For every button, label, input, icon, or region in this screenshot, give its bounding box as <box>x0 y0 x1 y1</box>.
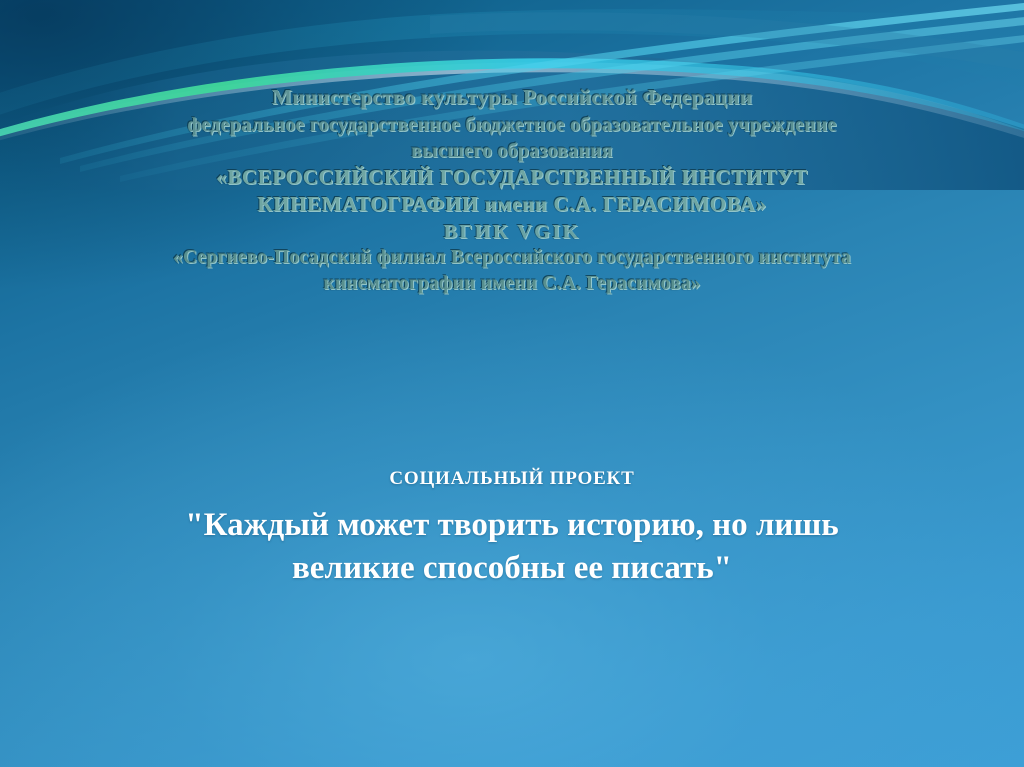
header-line-ministry: Министерство культуры Российской Федерац… <box>26 84 998 112</box>
header-line-branch-1: «Сергиево-Посадский филиал Всероссийског… <box>26 245 998 270</box>
presentation-slide: Министерство культуры Российской Федерац… <box>0 0 1024 767</box>
institution-header: Министерство культуры Российской Федерац… <box>0 84 1024 296</box>
header-line-institution-type: федеральное государственное бюджетное об… <box>26 112 998 138</box>
project-quote: "Каждый может творить историю, но лишь в… <box>40 504 984 590</box>
project-quote-line-2: великие способны ее писать" <box>40 547 984 590</box>
project-kicker-label: СОЦИАЛЬНЫЙ ПРОЕКТ <box>40 468 984 490</box>
header-line-institute-name-2: КИНЕМАТОГРАФИИ имени С.А. ГЕРАСИМОВА» <box>26 191 998 218</box>
project-title-block: СОЦИАЛЬНЫЙ ПРОЕКТ "Каждый может творить … <box>0 468 1024 590</box>
header-line-branch-2: кинематографии имени С.А. Герасимова» <box>26 271 998 296</box>
header-line-institute-name-1: «ВСЕРОССИЙСКИЙ ГОСУДАРСТВЕННЫЙ ИНСТИТУТ <box>26 164 998 191</box>
project-quote-line-1: "Каждый может творить историю, но лишь <box>40 504 984 547</box>
header-line-education-level: высшего образования <box>26 138 998 164</box>
header-line-abbreviation: ВГИК VGIK <box>26 219 998 246</box>
